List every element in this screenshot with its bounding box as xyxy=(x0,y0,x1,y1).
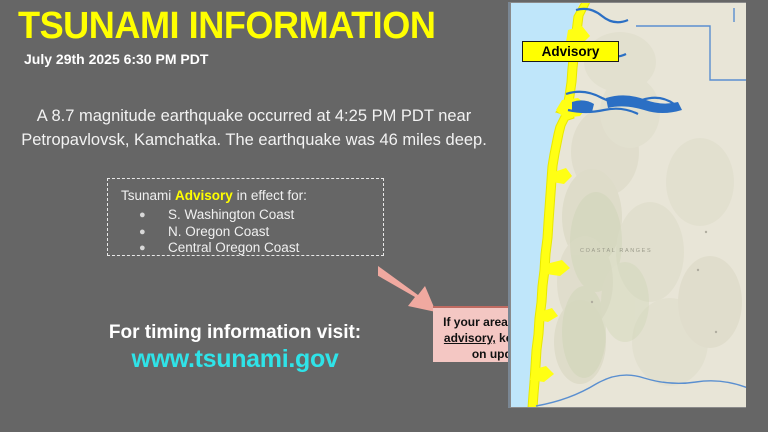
bullet-icon: ● xyxy=(139,224,146,241)
callout-underlined-word: advisory, xyxy=(444,331,496,345)
list-item: ● N. Oregon Coast xyxy=(121,224,299,241)
list-item: ● Central Oregon Coast xyxy=(121,240,299,257)
advisory-heading-highlight: Advisory xyxy=(175,188,233,203)
tsunami-gov-link[interactable]: www.tsunami.gov xyxy=(60,345,410,374)
advisory-areas-box: Tsunami Advisory in effect for: ● S. Was… xyxy=(107,178,384,256)
advisory-area-label: S. Washington Coast xyxy=(168,207,294,224)
advisory-area-list: ● S. Washington Coast ● N. Oregon Coast … xyxy=(121,207,299,257)
timing-info-label: For timing information visit: xyxy=(60,322,410,344)
content-panel: TSUNAMI INFORMATION July 29th 2025 6:30 … xyxy=(0,0,508,432)
timestamp-label: July 29th 2025 6:30 PM PDT xyxy=(24,51,208,67)
advisory-area-label: Central Oregon Coast xyxy=(168,240,299,257)
bullet-icon: ● xyxy=(139,240,146,257)
earthquake-summary-text: A 8.7 magnitude earthquake occurred at 4… xyxy=(16,104,492,152)
bullet-icon: ● xyxy=(139,207,146,224)
coastal-advisory-map[interactable]: COASTAL RANGES xyxy=(508,2,746,408)
map-label-coastal-ranges: COASTAL RANGES xyxy=(580,248,652,254)
slide-root: TSUNAMI INFORMATION July 29th 2025 6:30 … xyxy=(0,0,768,432)
map-advisory-badge: Advisory xyxy=(522,41,619,62)
advisory-heading: Tsunami Advisory in effect for: xyxy=(121,188,307,203)
advisory-heading-prefix: Tsunami xyxy=(121,188,175,203)
map-graphic: COASTAL RANGES xyxy=(510,2,746,408)
advisory-area-label: N. Oregon Coast xyxy=(168,224,269,241)
list-item: ● S. Washington Coast xyxy=(121,207,299,224)
advisory-heading-suffix: in effect for: xyxy=(233,188,307,203)
page-title: TSUNAMI INFORMATION xyxy=(18,4,435,48)
